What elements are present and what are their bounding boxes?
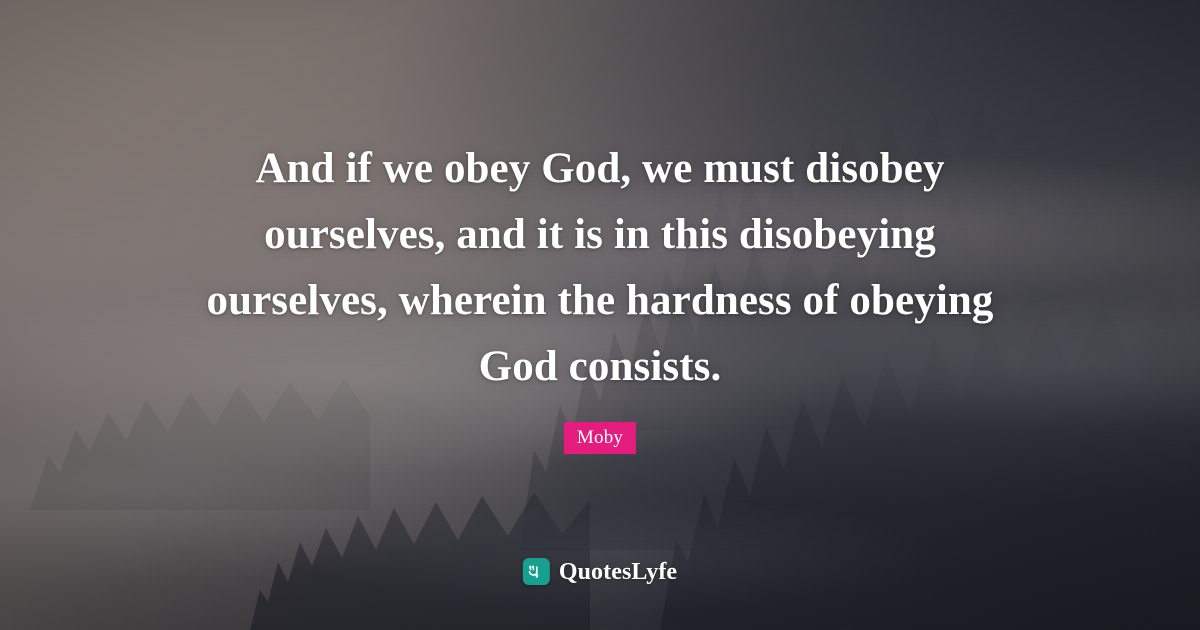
quote-text: And if we obey God, we must disobey ours… xyxy=(0,136,1200,400)
quote-line: And if we obey God, we must disobey xyxy=(255,145,944,192)
quote-line: God consists. xyxy=(479,343,722,390)
quote-line: ourselves, and it is in this disobeying xyxy=(264,211,936,258)
author-badge[interactable]: Moby xyxy=(564,422,636,454)
brand-name: QuotesLyfe xyxy=(559,560,677,584)
quote-line: ourselves, wherein the hardness of obeyi… xyxy=(207,277,994,324)
card-content: And if we obey God, we must disobey ours… xyxy=(0,0,1200,630)
quote-mark-icon xyxy=(523,558,550,585)
brand-logo[interactable]: QuotesLyfe xyxy=(523,558,677,585)
quote-card: And if we obey God, we must disobey ours… xyxy=(0,0,1200,630)
